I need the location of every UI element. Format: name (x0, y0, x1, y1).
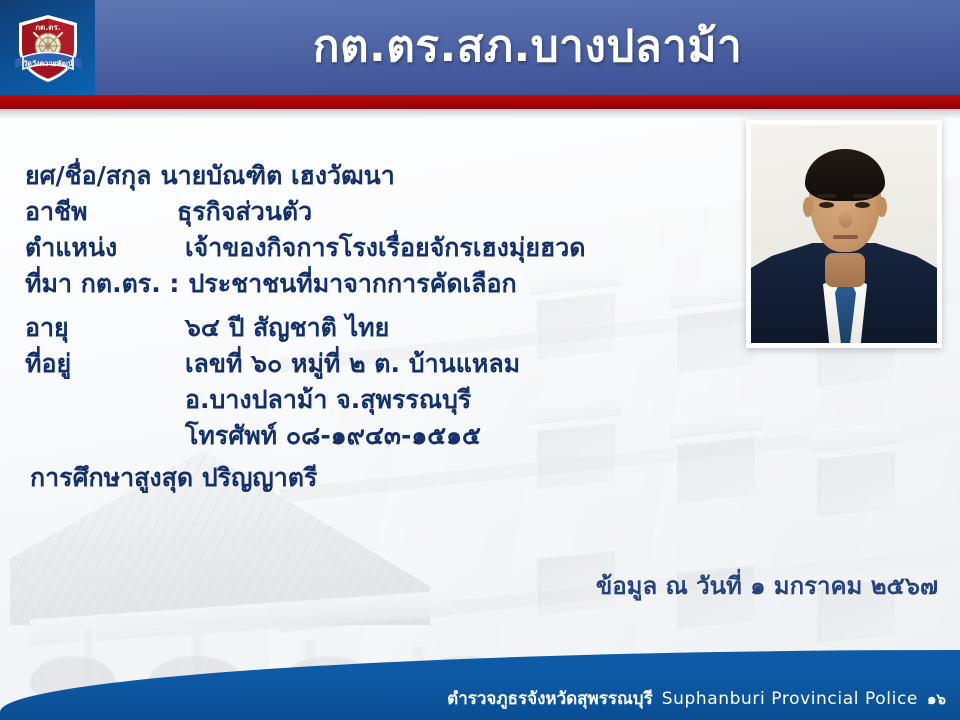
info-value-occupation: ธุรกิจส่วนตัว (177, 194, 312, 230)
portrait-eye (855, 202, 870, 208)
portrait-ear (803, 197, 813, 217)
info-label-age: อายุ (25, 310, 185, 346)
svg-text:วัดวังควายพัฒน์: วัดวังควายพัฒน์ (23, 59, 73, 68)
footer-english-label: Suphanburi Provincial Police (662, 689, 918, 709)
police-shield-emblem-icon: กต.ตร. วัดวังควายพัฒน์ (9, 9, 87, 87)
page-title: กต.ตร.สภ.บางปลาม้า (95, 0, 960, 95)
info-row-address-line2: อ.บางปลาม้า จ.สุพรรณบุรี (0, 382, 740, 418)
info-label-occupation: อาชีพ (25, 194, 177, 230)
info-row-position: ตำแหน่ง เจ้าของกิจการโรงเรื่อยจักรเฮงมุ่… (0, 230, 740, 266)
portrait-nose (839, 211, 852, 228)
info-value-age: ๖๔ ปี สัญชาติ ไทย (185, 310, 389, 346)
info-label-name: ยศ/ชื่อ/สกุล (25, 158, 151, 194)
portrait-eyebrow (853, 194, 872, 198)
footer-page-number: ๑๖ (927, 687, 946, 711)
info-label-position: ตำแหน่ง (25, 230, 185, 266)
info-value-phone: โทรศัพท์ ๐๘-๑๙๔๓-๑๕๑๕ (185, 418, 481, 454)
info-row-phone: โทรศัพท์ ๐๘-๑๙๔๓-๑๕๑๕ (0, 418, 740, 454)
portrait-neck (825, 253, 865, 287)
portrait-photo (746, 120, 942, 348)
info-value-education: การศึกษาสูงสุด ปริญญาตรี (30, 460, 317, 496)
header-red-stripe (0, 95, 960, 109)
header-drop-shadow (0, 109, 960, 119)
svg-text:กต.ตร.: กต.ตร. (35, 23, 61, 32)
info-label-address: ที่อยู่ (25, 346, 185, 382)
info-value-position: เจ้าของกิจการโรงเรื่อยจักรเฮงมุ่ยฮวด (185, 230, 586, 266)
info-row-occupation: อาชีพ ธุรกิจส่วนตัว (0, 194, 740, 230)
info-value-address-line2: อ.บางปลาม้า จ.สุพรรณบุรี (185, 382, 471, 418)
portrait-eye (819, 202, 834, 208)
info-row-education: การศึกษาสูงสุด ปริญญาตรี (0, 460, 740, 496)
organization-logo: กต.ตร. วัดวังควายพัฒน์ (0, 0, 95, 95)
building-window (816, 450, 896, 518)
portrait-photo-image (751, 125, 937, 343)
portrait-ear (877, 197, 887, 217)
info-row-age: อายุ ๖๔ ปี สัญชาติ ไทย (0, 310, 740, 346)
slide-canvas: กต.ตร.สภ.บางปลาม้า (0, 0, 960, 720)
info-row-origin: ที่มา กต.ตร. : ประชาชนที่มาจากการคัดเลือ… (0, 266, 740, 302)
info-label-origin: ที่มา กต.ตร. : (25, 266, 179, 302)
footer-text-group: ตำรวจภูธรจังหวัดสุพรรณบุรี Suphanburi Pr… (447, 685, 946, 712)
portrait-hair (805, 149, 885, 201)
data-as-of-date: ข้อมูล ณ วันที่ ๑ มกราคม ๒๕๖๗ (596, 566, 938, 605)
member-info-block: ยศ/ชื่อ/สกุล นายบัณฑิต เฮงวัฒนา อาชีพ ธุ… (0, 158, 740, 496)
info-row-name: ยศ/ชื่อ/สกุล นายบัณฑิต เฮงวัฒนา (0, 158, 740, 194)
info-value-name: นายบัณฑิต เฮงวัฒนา (160, 158, 394, 194)
info-value-address: เลขที่ ๖๐ หมู่ที่ ๒ ต. บ้านแหลม (185, 346, 520, 382)
footer-thai-label: ตำรวจภูธรจังหวัดสุพรรณบุรี (447, 685, 653, 712)
info-value-origin: ประชาชนที่มาจากการคัดเลือก (188, 266, 516, 302)
portrait-eyebrow (817, 194, 836, 198)
info-row-address: ที่อยู่ เลขที่ ๖๐ หมู่ที่ ๒ ต. บ้านแหลม (0, 346, 740, 382)
portrait-mouth (833, 235, 858, 239)
